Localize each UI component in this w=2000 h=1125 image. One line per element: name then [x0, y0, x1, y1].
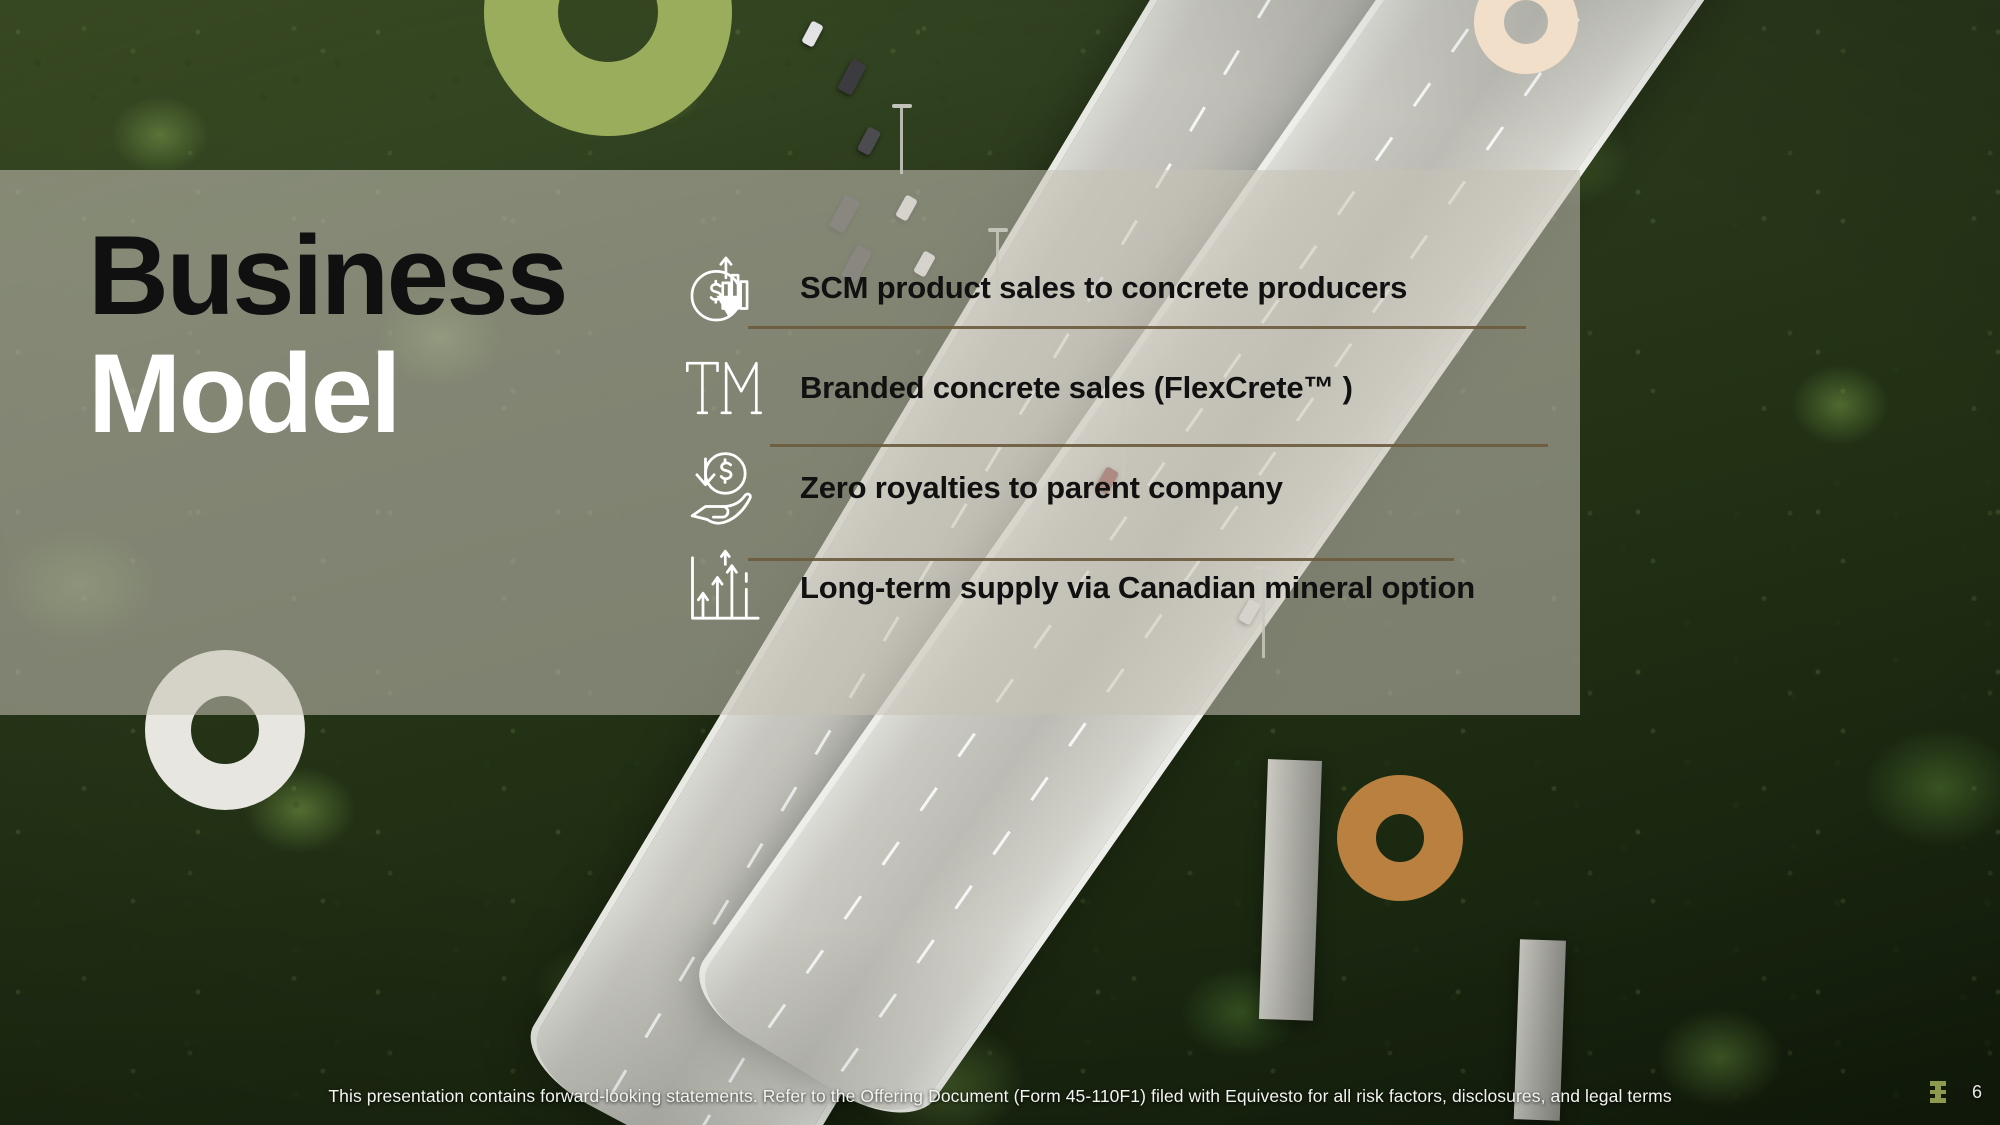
list-item-label: Long-term supply via Canadian mineral op… [800, 570, 1475, 606]
page-title-line-2: Model [88, 340, 608, 448]
list-item: Zero royalties to parent company [676, 438, 1576, 538]
list-item-label: Branded concrete sales (FlexCrete™ ) [800, 370, 1353, 406]
decor-ring-orange [1337, 775, 1463, 901]
page-title-line-1: Business [88, 222, 608, 330]
list-item-label: Zero royalties to parent company [800, 470, 1283, 506]
page-number: 6 [1972, 1082, 1982, 1103]
brand-logo-icon [1927, 1079, 1949, 1105]
page-marker: 6 [1927, 1077, 1982, 1107]
hand-holding-dollar-down-arrow-icon [676, 447, 772, 529]
bullet-list: SCM product sales to concrete producers … [676, 238, 1576, 638]
list-item: Long-term supply via Canadian mineral op… [676, 538, 1576, 638]
list-item: Branded concrete sales (FlexCrete™ ) [676, 338, 1576, 438]
trademark-tm-icon [676, 358, 772, 418]
list-item-label: SCM product sales to concrete producers [800, 270, 1407, 306]
page-marker-rule [1959, 1077, 1962, 1107]
pie-chart-dollar-growth-icon [676, 247, 772, 329]
footer-disclaimer: This presentation contains forward-looki… [0, 1086, 2000, 1107]
list-item: SCM product sales to concrete producers [676, 238, 1576, 338]
ascending-arrows-chart-icon [676, 547, 772, 629]
slide-business-model: Business Model SCM product sal [0, 0, 2000, 1125]
page-title: Business Model [88, 222, 608, 447]
